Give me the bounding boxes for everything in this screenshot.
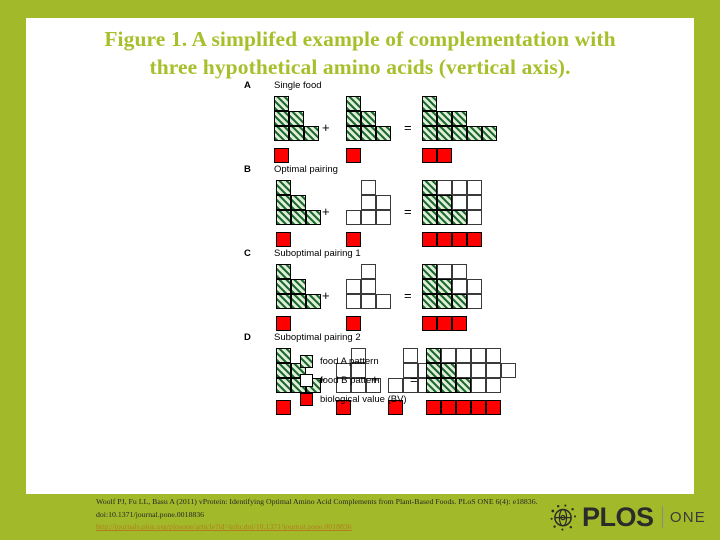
bv-unit [441,400,456,415]
grid-cell [437,195,452,210]
figure-title-line-1: Figure 1. A simplifed example of complem… [104,27,615,51]
panel-caption: Optimal pairing [274,164,338,175]
grid-cell [276,210,291,225]
grid-cell [441,348,456,363]
bv-unit [456,400,471,415]
grid-cell [361,111,376,126]
grid-cell [274,96,289,111]
bv-unit [422,232,437,247]
grid-cell [422,111,437,126]
grid-cell [361,264,376,279]
grid-cell [289,126,304,141]
grid-cell [426,378,441,393]
grid-cell [486,348,501,363]
grid-cell [426,363,441,378]
grid-cell [346,126,361,141]
grid-cell [361,180,376,195]
plos-wordmark: PLOS [582,504,654,531]
biological-value-bar [276,316,291,331]
grid-cell [376,126,391,141]
grid-cell [437,264,452,279]
result-block-group [422,180,482,225]
panel-letter: D [244,332,251,343]
bv-unit [437,148,452,163]
plos-globe-icon [548,502,578,532]
biological-value-bar [346,316,361,331]
grid-cell [422,195,437,210]
bv-unit [276,400,291,415]
grid-cell [276,378,291,393]
grid-cell [346,210,361,225]
grid-cell [471,378,486,393]
grid-cell [422,96,437,111]
panel-caption: Suboptimal pairing 1 [274,248,361,259]
grid-cell [274,126,289,141]
bv-unit [452,316,467,331]
figure-title-line-2: three hypothetical amino acids (vertical… [149,55,570,79]
equals-operator: = [404,204,412,219]
grid-cell [482,126,497,141]
figure-title: Figure 1. A simplifed example of complem… [26,26,694,81]
grid-cell [276,195,291,210]
bv-unit [467,232,482,247]
grid-cell [291,210,306,225]
biological-value-bar [422,316,467,331]
grid-cell [376,294,391,309]
legend-label-food-a: food A pattern [320,356,379,367]
grid-cell [452,180,467,195]
equals-operator: = [404,288,412,303]
equals-operator: = [410,372,418,387]
result-block-group [426,348,516,393]
grid-cell [346,111,361,126]
grid-cell [274,111,289,126]
grid-cell [467,210,482,225]
grid-cell [291,294,306,309]
bv-unit [486,400,501,415]
grid-cell [471,348,486,363]
figure-image: ASingle food+=BOptimal pairing+=CSubopti… [26,80,694,480]
legend-item-food-b: food B pattern [300,373,407,388]
grid-cell [422,264,437,279]
grid-cell [437,180,452,195]
food-a-pattern-swatch [300,355,313,368]
panel-letter: C [244,248,251,259]
grid-cell [467,195,482,210]
bv-unit [452,232,467,247]
slide-root: { "slide": { "background_color": "#a2ba2… [0,0,720,540]
plus-operator: + [322,120,330,135]
biological-value-bar [346,148,361,163]
grid-cell [467,180,482,195]
grid-cell [437,126,452,141]
grid-cell [422,210,437,225]
grid-cell [467,126,482,141]
grid-cell [422,126,437,141]
legend-label-bv: biological value (BV) [320,394,407,405]
result-block-group [422,96,497,141]
figure-legend: food A pattern food B pattern biological… [300,354,407,411]
food-a-block-group [274,96,319,141]
grid-cell [291,195,306,210]
grid-cell [437,294,452,309]
bv-unit [471,400,486,415]
slide-content-card: Figure 1. A simplifed example of complem… [26,18,694,494]
food-a-block-group [276,180,321,225]
grid-cell [304,126,319,141]
grid-cell [361,294,376,309]
legend-item-bv: biological value (BV) [300,392,407,407]
grid-cell [437,210,452,225]
biological-value-bar [346,232,361,247]
grid-cell [486,378,501,393]
biological-value-bar [274,148,289,163]
grid-cell [422,279,437,294]
figure-panel-c: CSuboptimal pairing 1+= [26,248,694,332]
equals-operator: = [404,120,412,135]
grid-cell [437,111,452,126]
grid-cell [361,195,376,210]
grid-cell [426,348,441,363]
panel-letter: A [244,80,251,91]
grid-cell [452,264,467,279]
grid-cell [501,363,516,378]
grid-cell [456,348,471,363]
grid-cell [346,294,361,309]
grid-cell [467,294,482,309]
grid-cell [452,195,467,210]
grid-cell [452,111,467,126]
plos-logo: PLOS ONE [548,500,706,534]
grid-cell [276,363,291,378]
figure-panel-b: BOptimal pairing+= [26,164,694,248]
bv-unit [346,316,361,331]
biological-value-bar [422,232,482,247]
bv-unit [437,316,452,331]
bv-unit [276,316,291,331]
grid-cell [437,279,452,294]
biological-value-bar [276,232,291,247]
grid-cell [346,96,361,111]
plus-operator: + [322,288,330,303]
food-b-pattern-swatch [300,374,313,387]
grid-cell [276,180,291,195]
bv-unit [274,148,289,163]
biological-value-bar [276,400,291,415]
grid-cell [456,363,471,378]
panel-letter: B [244,164,251,175]
bv-unit [437,232,452,247]
food-a-block-group [346,96,391,141]
legend-label-food-b: food B pattern [320,375,380,386]
grid-cell [361,210,376,225]
grid-cell [452,210,467,225]
grid-cell [452,294,467,309]
grid-cell [306,294,321,309]
bv-unit [426,400,441,415]
grid-cell [376,195,391,210]
grid-cell [276,279,291,294]
grid-cell [456,378,471,393]
grid-cell [422,294,437,309]
grid-cell [306,210,321,225]
logo-divider [662,506,663,528]
grid-cell [452,279,467,294]
plos-one-label: ONE [670,510,706,525]
panel-caption: Single food [274,80,322,91]
grid-cell [276,294,291,309]
bv-unit [346,148,361,163]
grid-cell [422,180,437,195]
grid-cell [467,279,482,294]
grid-cell [441,363,456,378]
biological-value-swatch [300,393,313,406]
bv-unit [422,316,437,331]
figure-panel-a: ASingle food+= [26,80,694,164]
bv-unit [276,232,291,247]
grid-cell [361,279,376,294]
grid-cell [441,378,456,393]
result-block-group [422,264,482,309]
grid-cell [376,210,391,225]
bv-unit [422,148,437,163]
grid-cell [486,363,501,378]
biological-value-bar [422,148,452,163]
legend-item-food-a: food A pattern [300,354,407,369]
bv-unit [346,232,361,247]
food-b-block-group [346,180,391,225]
grid-cell [289,111,304,126]
grid-cell [361,126,376,141]
biological-value-bar [426,400,501,415]
grid-cell [471,363,486,378]
grid-cell [346,279,361,294]
food-a-block-group [276,264,321,309]
grid-cell [452,126,467,141]
panel-caption: Suboptimal pairing 2 [274,332,361,343]
grid-cell [276,348,291,363]
grid-cell [291,279,306,294]
food-b-block-group [346,264,391,309]
plus-operator: + [322,204,330,219]
grid-cell [276,264,291,279]
